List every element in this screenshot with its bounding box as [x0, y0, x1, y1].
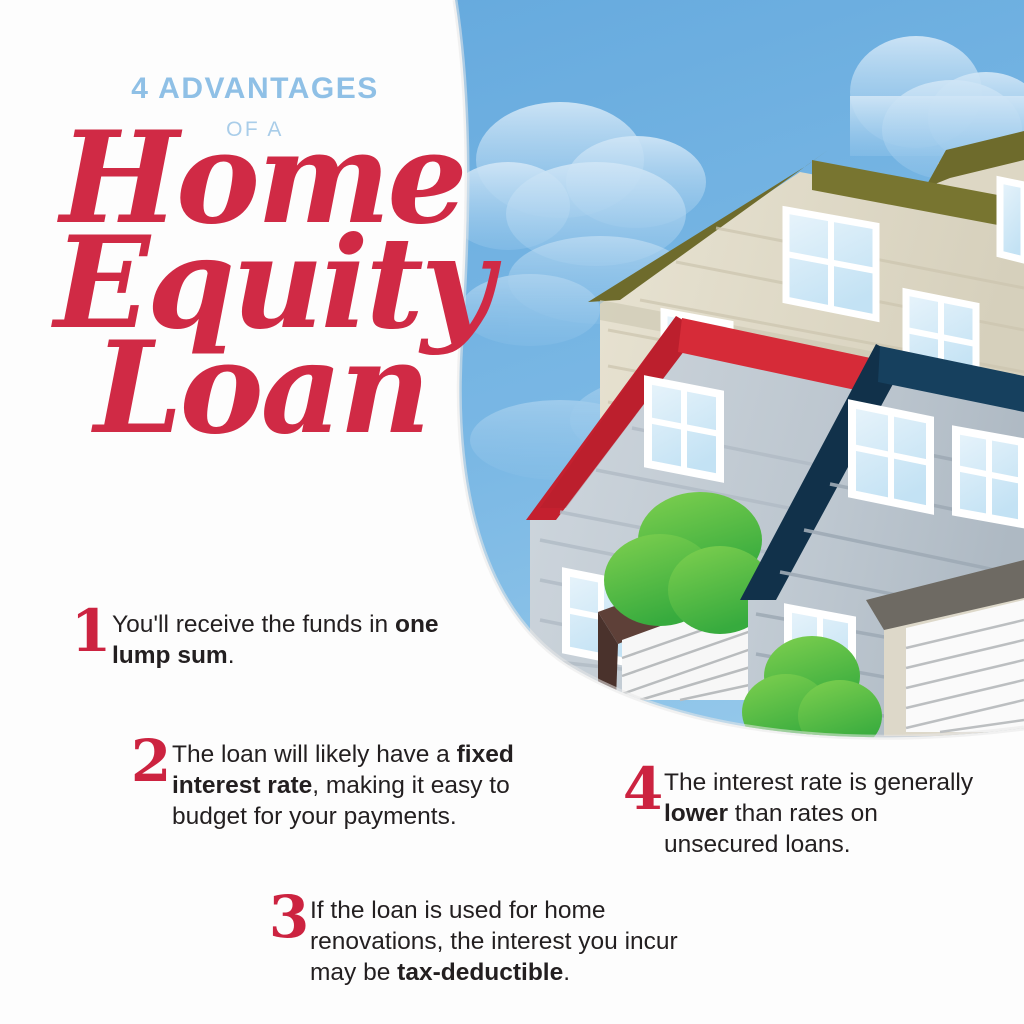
advantage-text-4: The interest rate is generally lower tha… [664, 762, 974, 861]
infographic-canvas: 4 ADVANTAGES OF A Home Equity Loan 1 You… [0, 0, 1024, 1024]
page-title: Home Equity Loan [52, 128, 482, 438]
illustration-panel [440, 0, 1024, 770]
advantage-item-1: 1 You'll receive the funds in one lump s… [70, 604, 490, 672]
title-line-3: Loan [94, 338, 482, 439]
advantage-item-2: 2 The loan will likely have a fixed inte… [130, 734, 570, 833]
advantage-number-3: 3 [268, 890, 310, 945]
advantage-text-1: You'll receive the funds in one lump sum… [112, 604, 472, 672]
advantage-item-3: 3 If the loan is used for home renovatio… [268, 890, 718, 989]
advantage-number-2: 2 [130, 734, 172, 789]
advantage-text-3: If the loan is used for home renovations… [310, 890, 678, 989]
advantage-item-4: 4 The interest rate is generally lower t… [622, 762, 1012, 861]
eyebrow-headline: 4 ADVANTAGES [0, 74, 510, 104]
advantage-number-4: 4 [622, 762, 664, 817]
advantage-number-1: 1 [70, 604, 112, 659]
advantage-text-2: The loan will likely have a fixed intere… [172, 734, 542, 833]
